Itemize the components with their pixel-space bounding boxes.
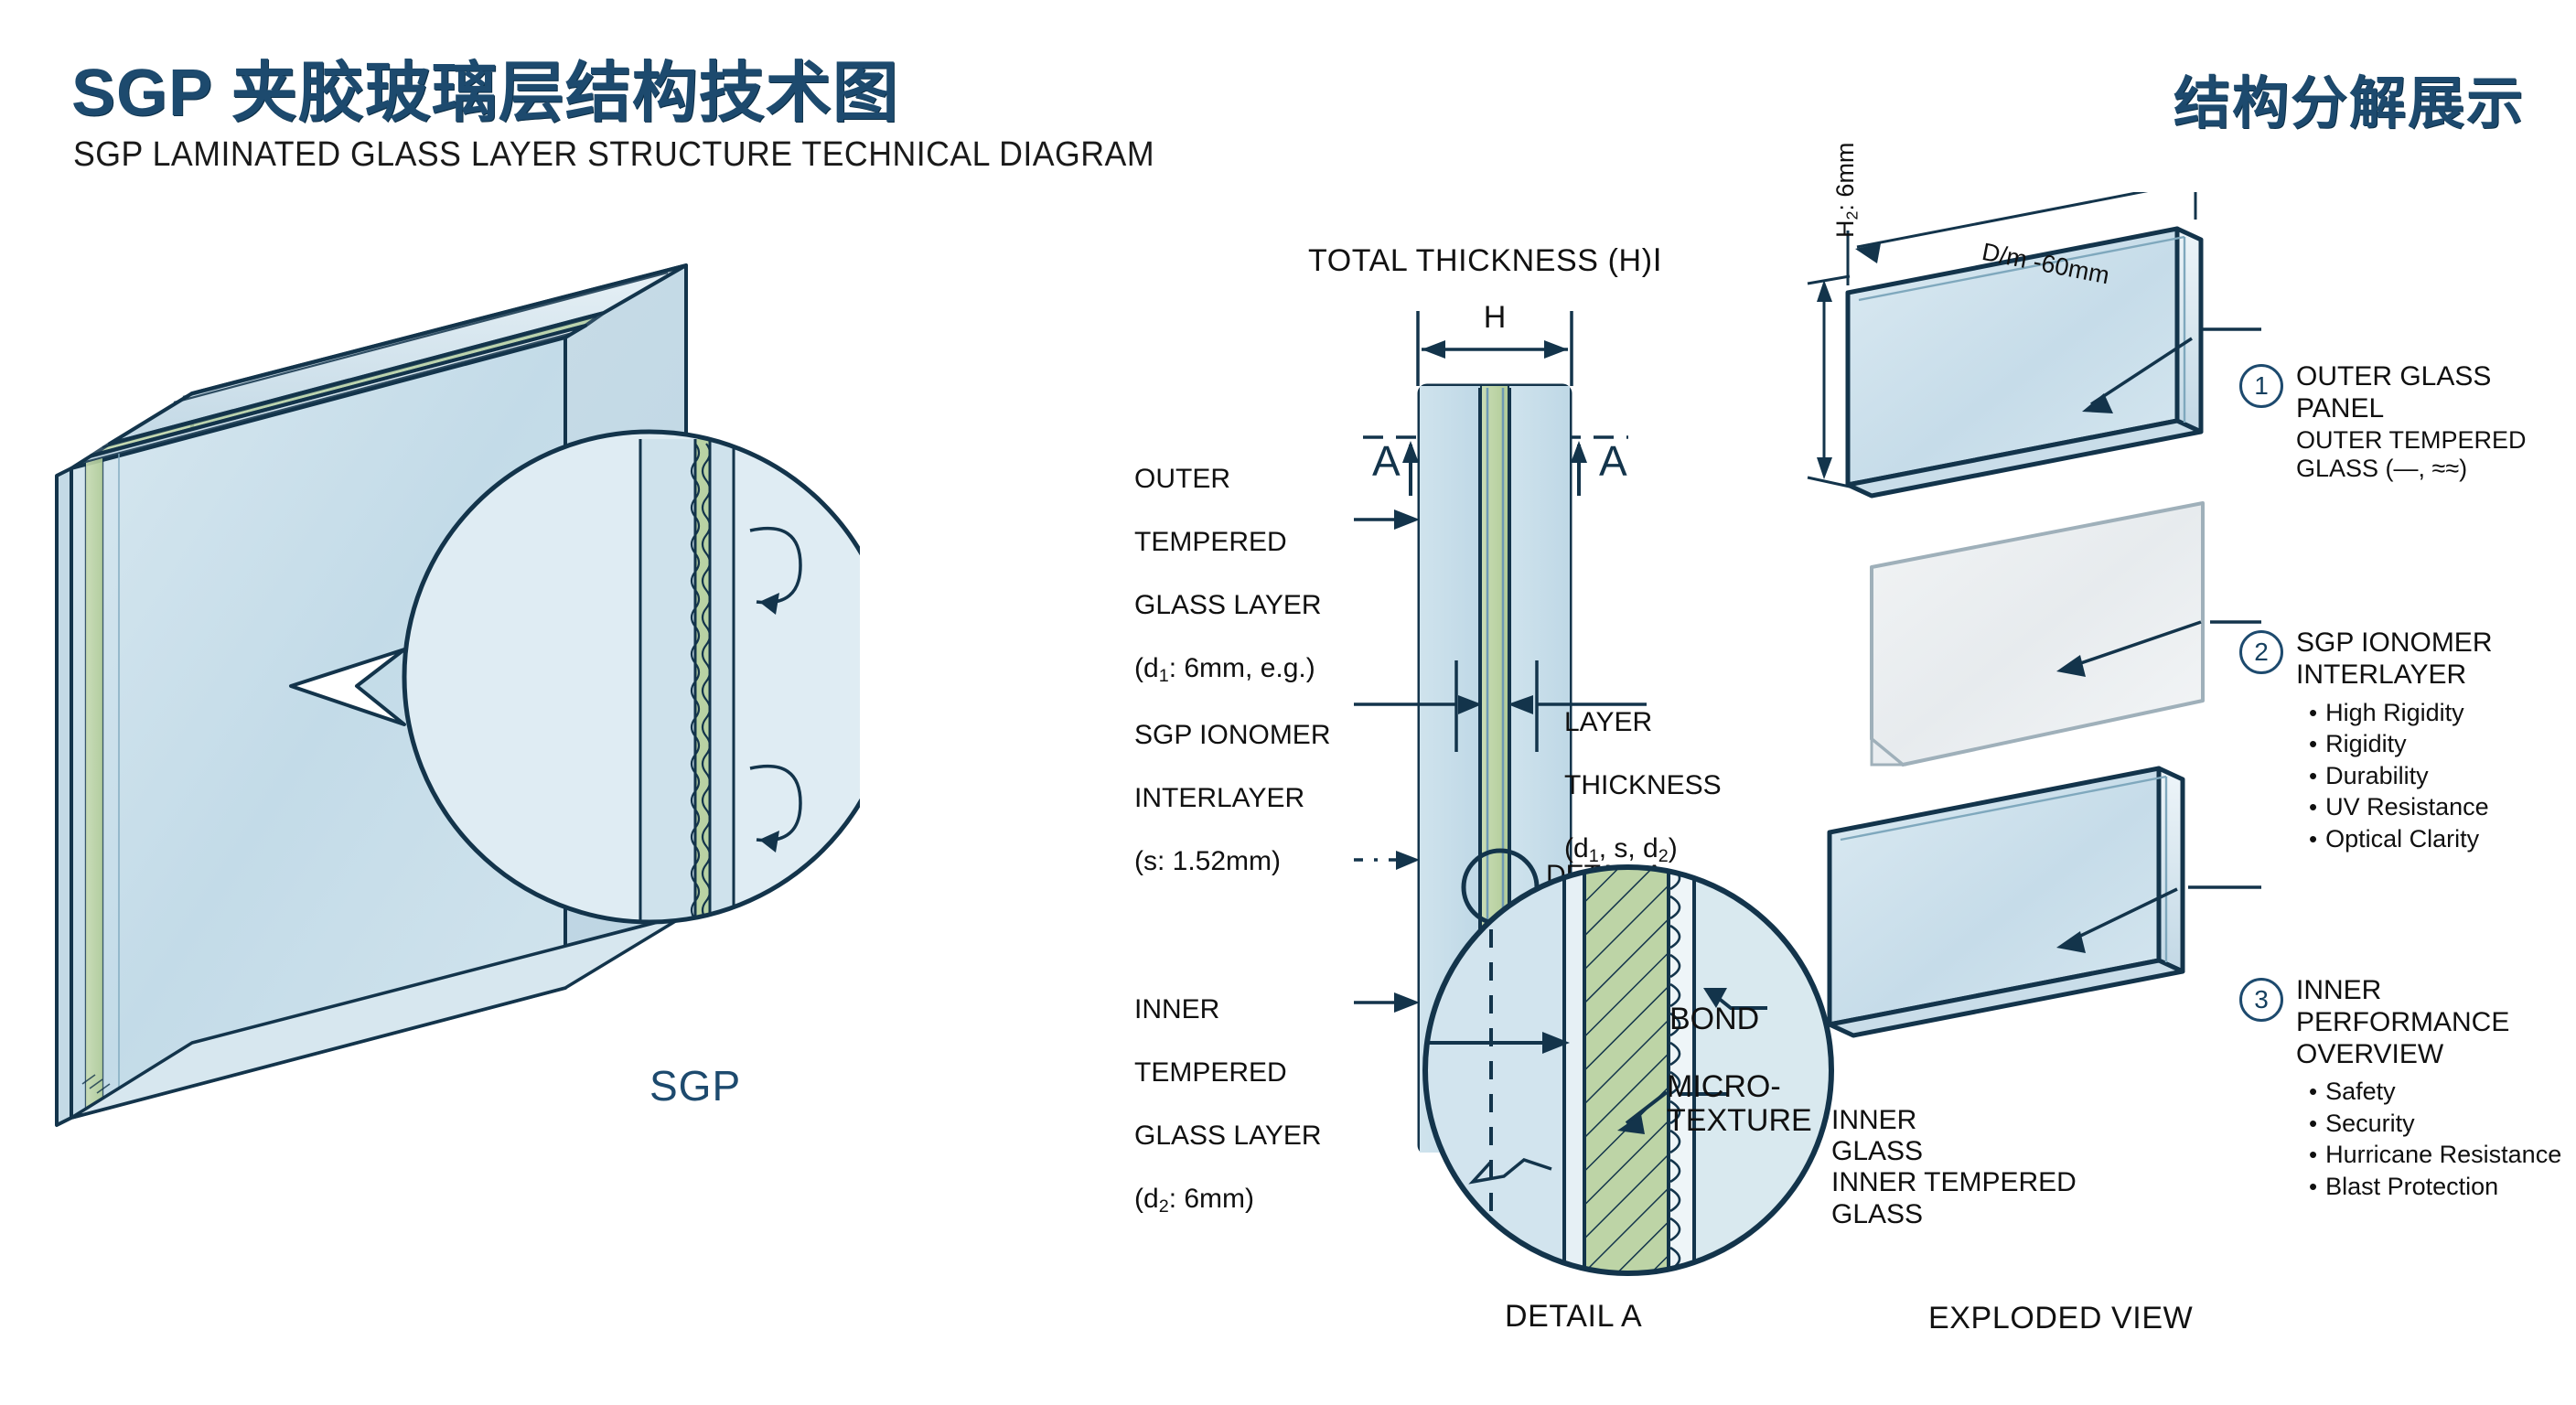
sgp-interlayer-label: SGP IONOMER INTERLAYER (s: 1.52mm) bbox=[1134, 688, 1330, 909]
inner-glass-layer-line3: GLASS LAYER bbox=[1134, 1121, 1322, 1153]
callout-3-bullets: Safety Security Hurricane Resistance Bla… bbox=[2309, 1076, 2561, 1202]
outer-glass-layer-line4: (d1: 6mm, e.g.) bbox=[1134, 653, 1322, 687]
inner-glass-layer-line1: INNER bbox=[1134, 994, 1322, 1026]
callout-3-bullet: Blast Protection bbox=[2309, 1171, 2561, 1203]
layer-thickness-line1: LAYER bbox=[1564, 707, 1722, 739]
svg-text:A: A bbox=[1599, 437, 1627, 485]
callout-2-bullet: Optical Clarity bbox=[2309, 823, 2492, 855]
callout-3-bullet: Safety bbox=[2309, 1076, 2561, 1108]
callout-3-bullet: Security bbox=[2309, 1108, 2561, 1140]
callout-2-title: SGP IONOMER INTERLAYER bbox=[2296, 627, 2492, 692]
inner-glass-layer-label: INNER TEMPERED GLASS LAYER (d2: 6mm) bbox=[1134, 962, 1322, 1249]
exploded-height-dimension-label: H2: 6mm bbox=[1831, 55, 1862, 238]
exploded-view-caption: EXPLODED VIEW bbox=[1928, 1301, 2193, 1336]
exploded-callout-2: 2 SGP IONOMER INTERLAYER High Rigidity R… bbox=[2239, 627, 2560, 854]
callout-2-bullet: UV Resistance bbox=[2309, 791, 2492, 823]
outer-glass-layer-label: OUTER TEMPERED GLASS LAYER (d1: 6mm, e.g… bbox=[1134, 432, 1322, 718]
callout-3-number: 3 bbox=[2239, 978, 2283, 1022]
iso-view-label: SGP bbox=[649, 1061, 741, 1110]
inner-glass-layer-line4: (d2: 6mm) bbox=[1134, 1184, 1322, 1217]
callout-2-bullet: High Rigidity bbox=[2309, 697, 2492, 729]
sgp-interlayer-line3: (s: 1.52mm) bbox=[1134, 846, 1330, 878]
right-section-title-chinese: 结构分解展示 bbox=[2173, 57, 2525, 139]
bond-callout-label: BOND bbox=[1669, 1002, 1759, 1037]
sgp-interlayer-line2: INTERLAYER bbox=[1134, 783, 1330, 815]
svg-text:H: H bbox=[1484, 300, 1507, 335]
exploded-callout-3: 3 INNER PERFORMANCE OVERVIEW Safety Secu… bbox=[2239, 975, 2569, 1203]
inner-glass-note: INNER GLASS INNER TEMPERED GLASS bbox=[1831, 1105, 2077, 1230]
callout-1-number: 1 bbox=[2239, 364, 2283, 408]
page-title-chinese: SGP 夹胶玻璃层结构技术图 bbox=[71, 38, 899, 134]
callout-1-title: OUTER GLASS PANEL bbox=[2296, 361, 2527, 425]
callout-2-bullet: Durability bbox=[2309, 760, 2492, 792]
callout-2-bullet: Rigidity bbox=[2309, 728, 2492, 760]
detail-a-caption: DETAIL A bbox=[1505, 1299, 1642, 1335]
micro-texture-callout-label: MICRO- TEXTURE bbox=[1667, 1070, 1812, 1137]
total-thickness-label: TOTAL THICKNESS (H)Ⅰ bbox=[1308, 242, 1662, 279]
layer-thickness-line2: THICKNESS bbox=[1564, 770, 1722, 802]
outer-glass-layer-line2: TEMPERED bbox=[1134, 527, 1322, 559]
sgp-interlayer-line1: SGP IONOMER bbox=[1134, 720, 1330, 752]
outer-glass-layer-line1: OUTER bbox=[1134, 464, 1322, 496]
exploded-callout-1: 1 OUTER GLASS PANEL OUTER TEMPERED GLASS… bbox=[2239, 361, 2560, 483]
callout-3-title: INNER PERFORMANCE OVERVIEW bbox=[2296, 975, 2561, 1070]
callout-2-number: 2 bbox=[2239, 630, 2283, 674]
outer-glass-layer-line3: GLASS LAYER bbox=[1134, 590, 1322, 622]
page-subtitle-english: SGP LAMINATED GLASS LAYER STRUCTURE TECH… bbox=[73, 135, 1154, 175]
callout-2-bullets: High Rigidity Rigidity Durability UV Res… bbox=[2309, 697, 2492, 855]
svg-text:A: A bbox=[1372, 437, 1401, 485]
inner-glass-layer-line2: TEMPERED bbox=[1134, 1057, 1322, 1089]
callout-3-bullet: Hurricane Resistance bbox=[2309, 1139, 2561, 1171]
isometric-laminate-illustration bbox=[55, 256, 860, 1262]
callout-1-subtitle: OUTER TEMPERED GLASS (—, ≈≈) bbox=[2296, 426, 2527, 483]
